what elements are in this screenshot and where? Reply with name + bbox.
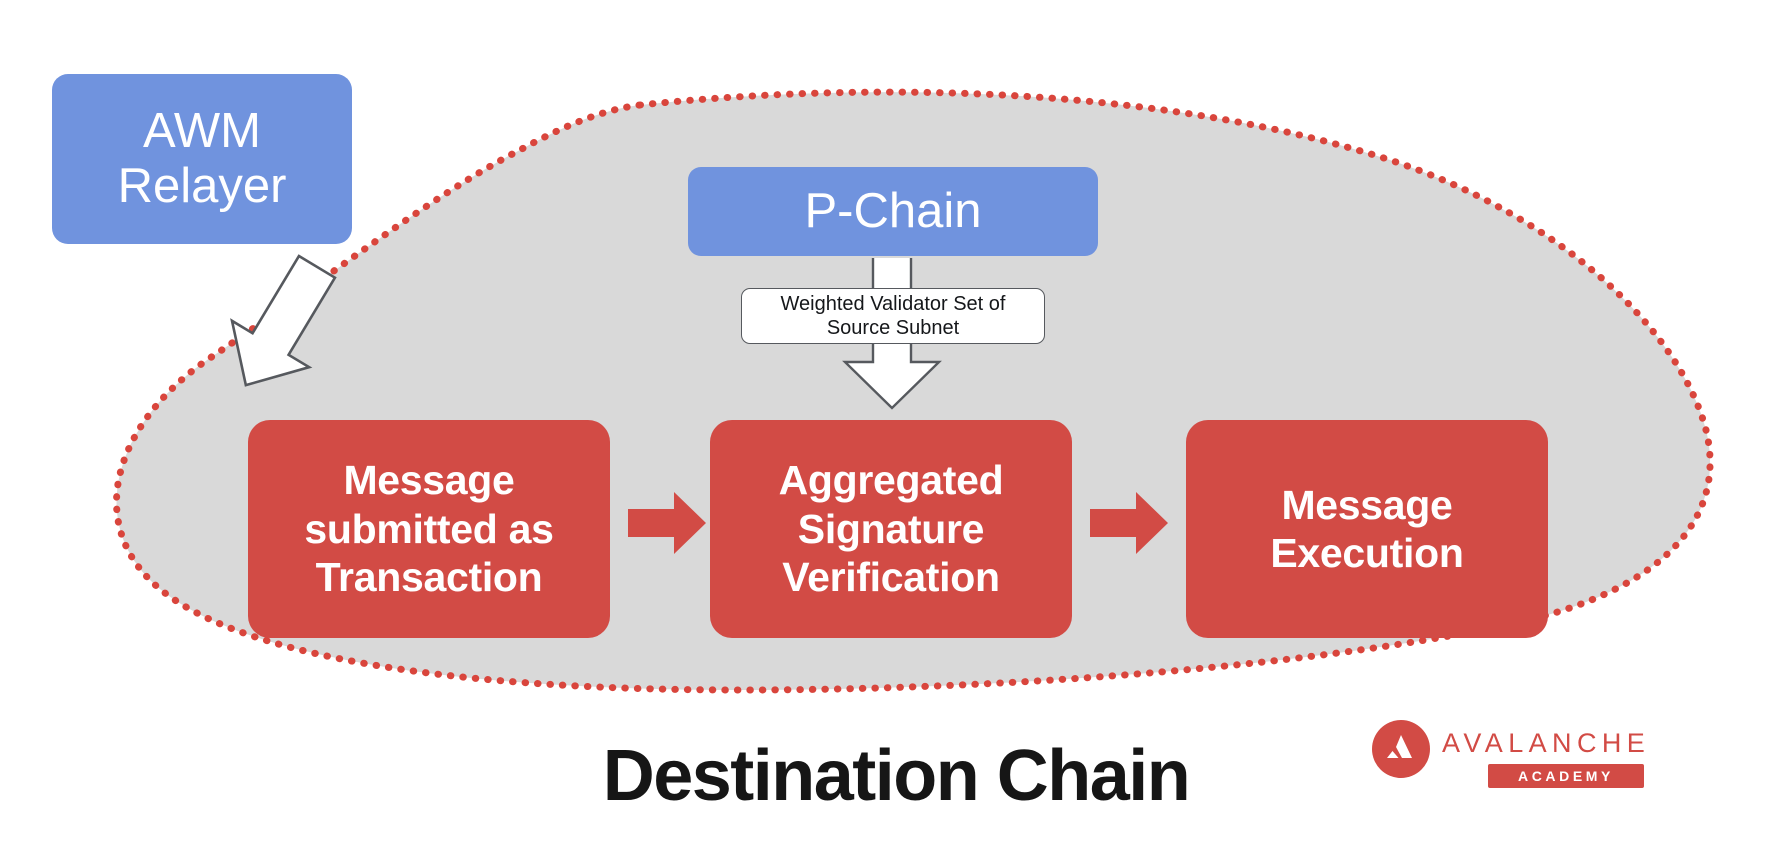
avalanche-mark-glyph bbox=[1372, 720, 1430, 778]
avalanche-triangle-icon bbox=[1372, 720, 1430, 778]
arrow-right-icon-verify-to-execute bbox=[1090, 492, 1168, 554]
logo-brand-text: AVALANCHE bbox=[1442, 728, 1650, 759]
logo-sub-text: ACADEMY bbox=[1488, 764, 1644, 788]
avalanche-academy-logo: AVALANCHE ACADEMY bbox=[1372, 716, 1644, 788]
diagram-canvas: AWM Relayer P-Chain Weighted Validator S… bbox=[0, 0, 1792, 848]
arrow-right-icon-submit-to-verify bbox=[628, 492, 706, 554]
